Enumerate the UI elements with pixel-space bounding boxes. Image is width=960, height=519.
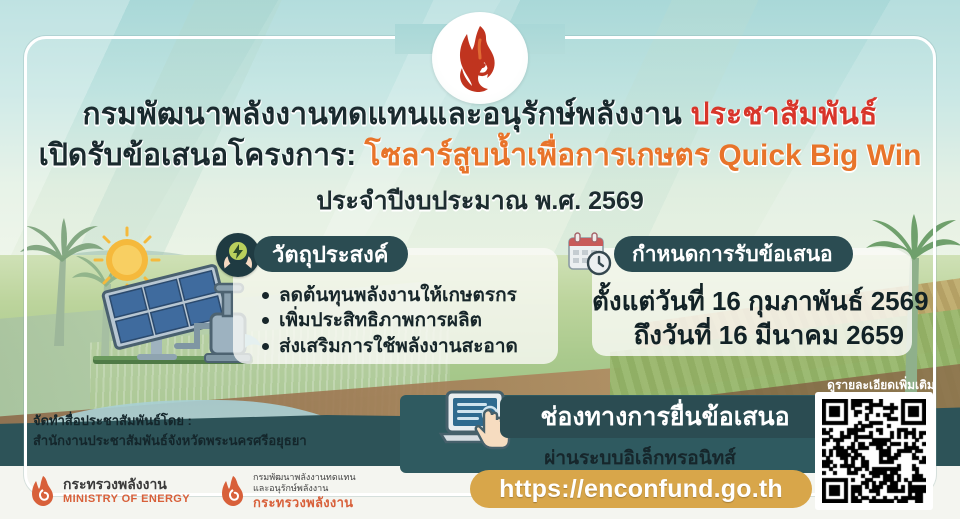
deadline-title: กำหนดการรับข้อเสนอ	[632, 238, 833, 271]
deadline-end-date: ถึงวันที่ 16 มีนาคม 2659	[592, 318, 904, 352]
submit-url-pill[interactable]: https://enconfund.go.th	[470, 470, 812, 508]
poster-root: กรมพัฒนาพลังงานทดแทนและอนุรักษ์พลังงาน ป…	[0, 0, 960, 519]
submit-subtitle: ผ่านระบบอิเล็กทรอนิทส์	[440, 443, 840, 473]
headline-line-3: ประจำปีงบประมาณ พ.ศ. 2569	[0, 181, 960, 221]
submit-title-panel: ช่องทางการยื่นข้อเสนอ	[500, 396, 830, 438]
list-item: ลดต้นทุนพลังงานให้เกษตรกร	[262, 283, 562, 308]
headline-block: กรมพัฒนาพลังงานทดแทนและอนุรักษ์พลังงาน ป…	[0, 96, 960, 221]
flame-logo-icon	[220, 475, 246, 507]
credit-line-1: จัดทำสื่อประชาสัมพันธ์โดย :	[33, 411, 363, 431]
headline-line-1: กรมพัฒนาพลังงานทดแทนและอนุรักษ์พลังงาน ป…	[0, 96, 960, 134]
qr-canvas[interactable]	[822, 399, 926, 503]
submit-title: ช่องทางการยื่นข้อเสนอ	[540, 397, 789, 437]
headline-line-1-red: ประชาสัมพันธ์	[690, 98, 877, 131]
objectives-title: วัตถุประสงค์	[272, 237, 388, 272]
flame-emblem-icon	[432, 12, 528, 104]
deadline-title-pill: กำหนดการรับข้อเสนอ	[614, 236, 853, 272]
list-item: ส่งเสริมการใช้พลังงานสะอาด	[262, 334, 562, 359]
logo-row: กระทรวงพลังงาน MINISTRY OF ENERGY กรมพัฒ…	[30, 472, 356, 511]
objectives-title-pill: วัตถุประสงค์	[254, 236, 408, 272]
logo-ministry-of-energy: กระทรวงพลังงาน MINISTRY OF ENERGY	[30, 475, 190, 507]
logo-dede-line-1: กรมพัฒนาพลังงานทดแทน	[253, 472, 356, 483]
submit-url[interactable]: https://enconfund.go.th	[499, 475, 783, 504]
logo-dede-text: กรมพัฒนาพลังงานทดแทน และอนุรักษ์พลังงาน …	[253, 472, 356, 511]
logo-dede-line-3: กระทรวงพลังงาน	[253, 495, 356, 511]
headline-line-1-black: กรมพัฒนาพลังงานทดแทนและอนุรักษ์พลังงาน	[82, 98, 682, 131]
headline-line-2: เปิดรับข้อเสนอโครงการ: โซลาร์สูบน้ำเพื่อ…	[0, 136, 960, 175]
credit-line-2: สำนักงานประชาสัมพันธ์จังหวัดพระนครศรีอยุ…	[33, 431, 363, 451]
deadline-dates: ตั้งแต่วันที่ 16 กุมภาพันธ์ 2569 ถึงวันท…	[592, 284, 914, 353]
logo-dede: กรมพัฒนาพลังงานทดแทน และอนุรักษ์พลังงาน …	[220, 472, 356, 511]
list-item: เพิ่มประสิทธิภาพการผลิต	[262, 308, 562, 333]
flame-logo-icon	[30, 475, 56, 507]
calendar-clock-icon	[567, 232, 613, 276]
credit-block: จัดทำสื่อประชาสัมพันธ์โดย : สำนักงานประช…	[33, 411, 363, 450]
deadline-start-date: ตั้งแต่วันที่ 16 กุมภาพันธ์ 2569	[592, 284, 904, 318]
logo-ministry-text: กระทรวงพลังงาน MINISTRY OF ENERGY	[63, 477, 190, 505]
qr-code-icon[interactable]	[815, 392, 933, 510]
logo-ministry-en: MINISTRY OF ENERGY	[63, 493, 190, 505]
logo-ministry-th: กระทรวงพลังงาน	[63, 477, 190, 493]
objectives-list: ลดต้นทุนพลังงานให้เกษตรกร เพิ่มประสิทธิภ…	[262, 283, 562, 359]
logo-dede-line-2: และอนุรักษ์พลังงาน	[253, 483, 356, 494]
headline-line-2-black: เปิดรับข้อเสนอโครงการ:	[39, 139, 357, 172]
headline-line-2-orange: โซลาร์สูบน้ำเพื่อการเกษตร Quick Big Win	[365, 139, 922, 172]
